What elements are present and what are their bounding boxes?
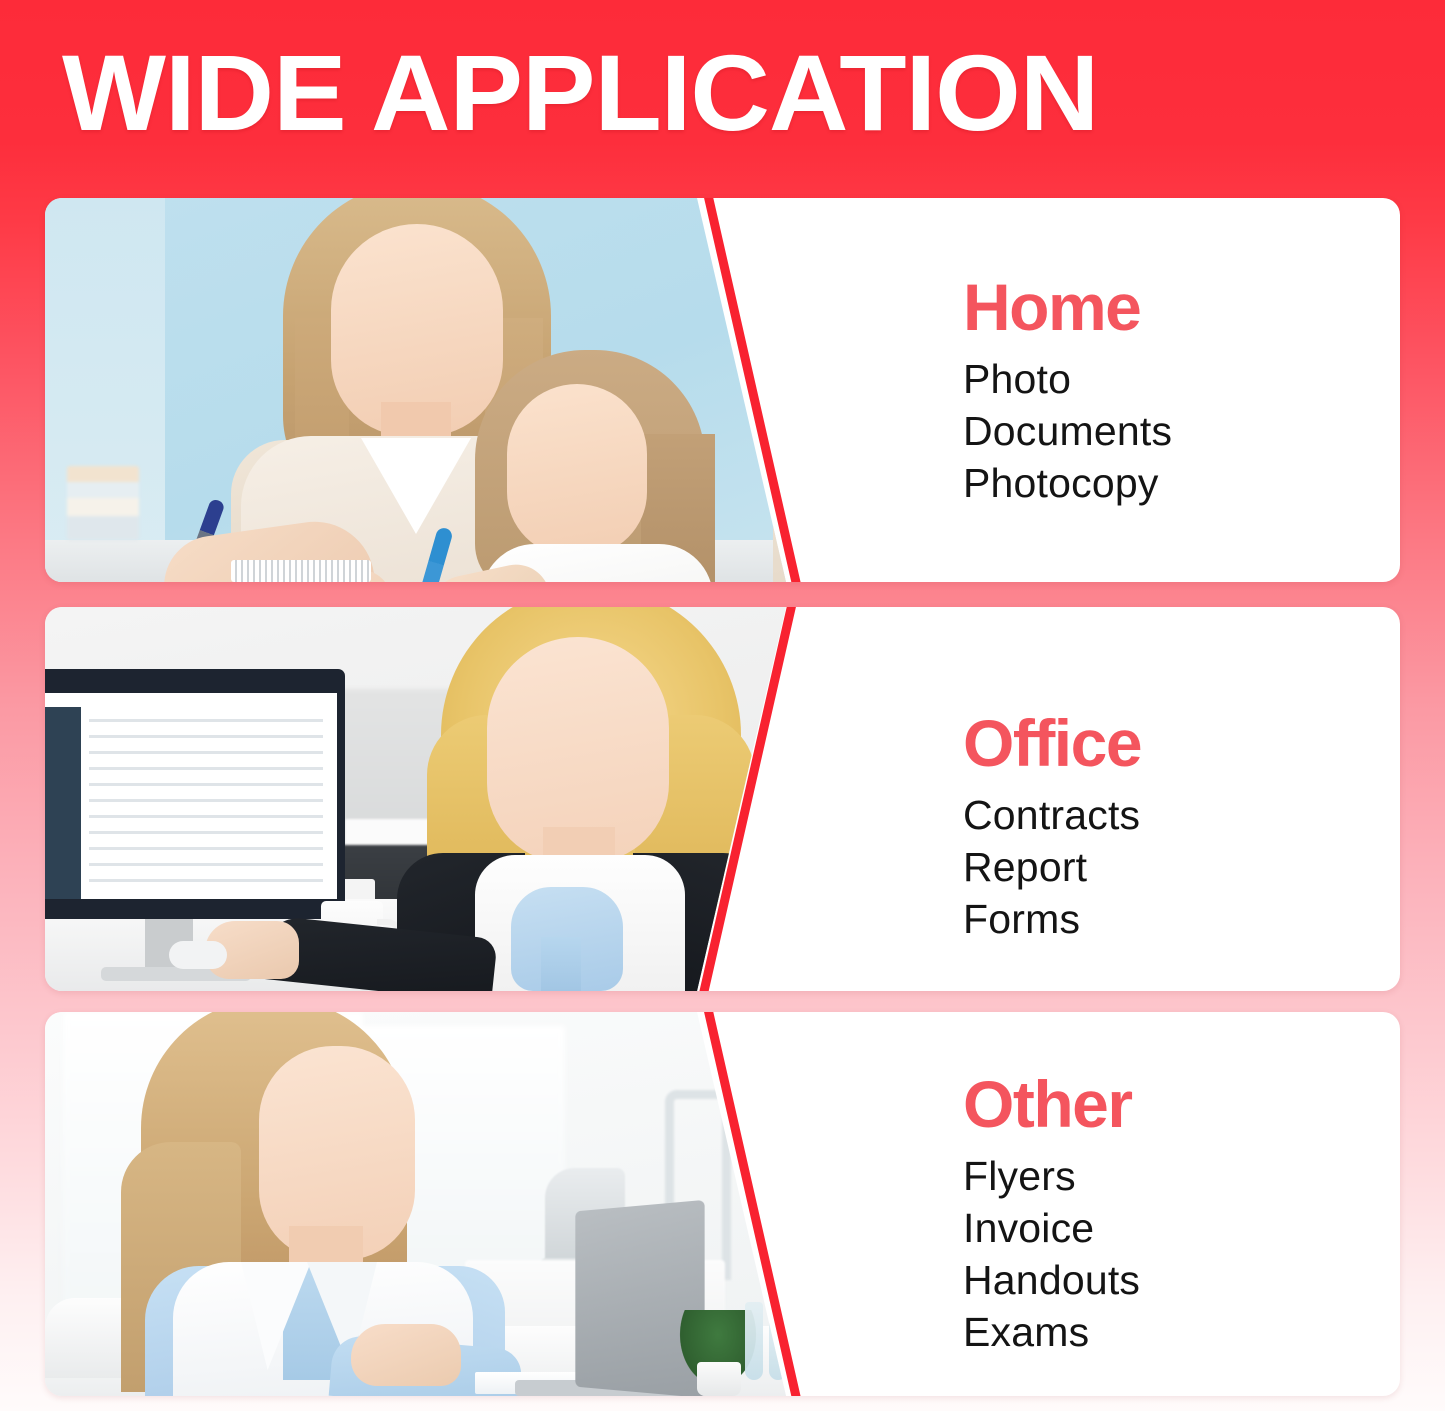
- card-heading-home: Home: [963, 271, 1400, 343]
- list-item: Forms: [963, 893, 1400, 945]
- list-item: Invoice: [963, 1202, 1400, 1254]
- list-item: Photocopy: [963, 457, 1400, 509]
- list-item: Handouts: [963, 1254, 1400, 1306]
- application-card-other: Other Flyers Invoice Handouts Exams: [45, 1012, 1400, 1396]
- card-heading-other: Other: [963, 1068, 1400, 1140]
- list-item: Flyers: [963, 1150, 1400, 1202]
- card-text-panel-home: Home Photo Documents Photocopy: [845, 198, 1400, 582]
- card-heading-office: Office: [963, 707, 1400, 779]
- businesswoman-at-desk-photo: [45, 607, 845, 991]
- list-item: Contracts: [963, 789, 1400, 841]
- page-title: WIDE APPLICATION: [62, 39, 1098, 147]
- list-item: Report: [963, 841, 1400, 893]
- card-item-list-office: Contracts Report Forms: [963, 789, 1400, 945]
- header-banner: WIDE APPLICATION: [0, 0, 1445, 186]
- card-item-list-home: Photo Documents Photocopy: [963, 353, 1400, 509]
- card-text-panel-office: Office Contracts Report Forms: [845, 607, 1400, 991]
- lab-professional-at-laptop-photo: [45, 1012, 845, 1396]
- list-item: Documents: [963, 405, 1400, 457]
- list-item: Exams: [963, 1306, 1400, 1358]
- card-item-list-other: Flyers Invoice Handouts Exams: [963, 1150, 1400, 1358]
- mother-and-daughter-studying-photo: [45, 198, 845, 582]
- card-text-panel-other: Other Flyers Invoice Handouts Exams: [845, 1012, 1400, 1396]
- application-card-home: Home Photo Documents Photocopy: [45, 198, 1400, 582]
- application-card-office: Office Contracts Report Forms: [45, 607, 1400, 991]
- list-item: Photo: [963, 353, 1400, 405]
